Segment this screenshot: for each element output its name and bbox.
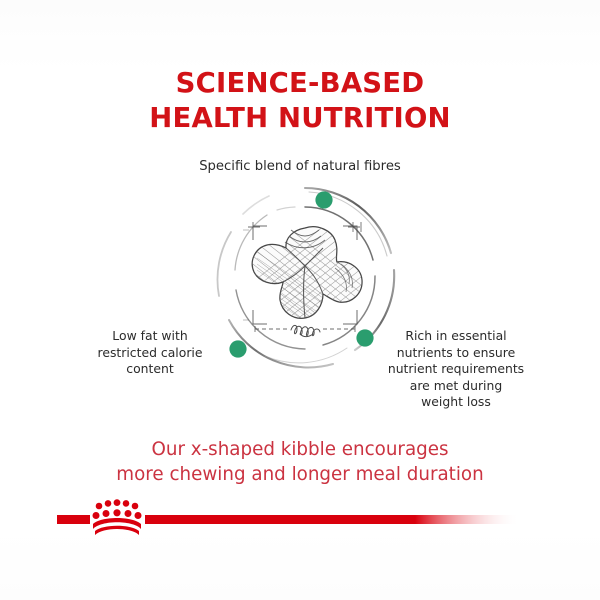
brand-rule-left-stub [57, 515, 90, 524]
feature-caption-right-line-2: nutrients to ensure [378, 345, 534, 362]
marker-top-dot [315, 191, 332, 208]
feature-caption-right-line-5: weight loss [378, 394, 534, 411]
product-feature-panel: SCIENCE-BASED HEALTH NUTRITION Specific … [0, 0, 600, 600]
feature-caption-left-line-2: restricted calorie [74, 345, 226, 362]
marker-left-dot [229, 340, 246, 357]
page-title: SCIENCE-BASED HEALTH NUTRITION [0, 66, 600, 136]
royal-canin-crown-icon [93, 499, 142, 535]
kibble-benefit-statement-line-2: more chewing and longer meal duration [0, 462, 600, 487]
feature-caption-right-line-4: are met during [378, 378, 534, 395]
feature-caption-right: Rich in essential nutrients to ensure nu… [378, 328, 534, 411]
kibble-diagram [205, 178, 405, 378]
brand-rule-main [145, 515, 520, 524]
marker-right-dot [356, 329, 373, 346]
page-title-line-2: HEALTH NUTRITION [0, 101, 600, 136]
kibble-benefit-statement: Our x-shaped kibble encourages more chew… [0, 437, 600, 487]
page-title-line-1: SCIENCE-BASED [0, 66, 600, 101]
kibble-benefit-statement-line-1: Our x-shaped kibble encourages [0, 437, 600, 462]
brand-footer [0, 497, 600, 539]
feature-caption-right-line-3: nutrient requirements [378, 361, 534, 378]
feature-caption-left-line-3: content [74, 361, 226, 378]
feature-caption-right-line-1: Rich in essential [378, 328, 534, 345]
kibble-signature-scribble [291, 325, 320, 336]
feature-caption-top: Specific blend of natural fibres [0, 158, 600, 176]
feature-caption-left: Low fat with restricted calorie content [74, 328, 226, 378]
feature-caption-left-line-1: Low fat with [74, 328, 226, 345]
